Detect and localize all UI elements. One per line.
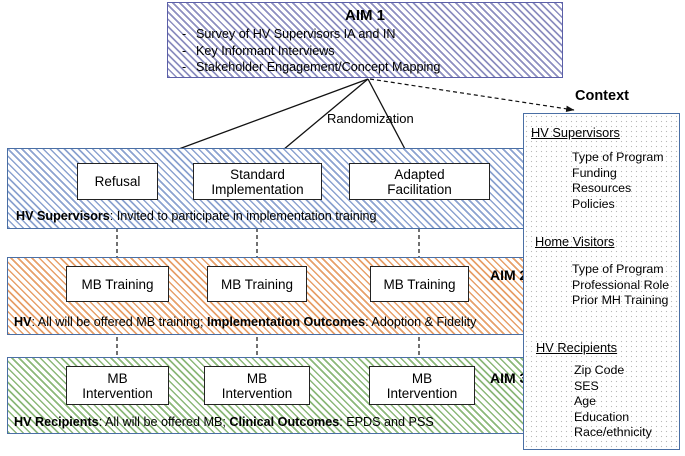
caption-hv-bold: HV [14,315,32,329]
context-heading-home-visitors: Home Visitors [535,234,614,249]
context-items-hv-recipients: Zip Code SES Age Education Race/ethnicit… [574,363,652,441]
context-item: Race/ethnicity [574,425,652,441]
context-item: SES [574,379,652,395]
caption-hv-bold2: Implementation Outcomes [207,315,365,329]
caption-hv-recipients: HV Recipients: All will be offered MB; C… [14,415,434,429]
node-mb-intervention-1[interactable]: MB Intervention [66,366,169,405]
context-item: Education [574,410,652,426]
node-mb-intervention-3-label: MB Intervention [387,371,458,401]
context-heading-hv-supervisors: HV Supervisors [531,125,620,140]
caption-recipients-mid: : All will be offered MB; [99,415,230,429]
aim1-bullet-item: -Stakeholder Engagement/Concept Mapping [182,59,554,76]
context-item: Resources [572,181,664,197]
randomization-label: Randomization [327,111,414,126]
context-title: Context [557,88,647,104]
node-mb-training-2-label: MB Training [221,277,293,292]
node-mb-intervention-2-label: MB Intervention [222,371,293,401]
caption-hv-rest: : Adoption & Fidelity [365,315,476,329]
caption-hv-mid: : All will be offered MB training; [32,315,207,329]
aim1-box: AIM 1 -Survey of HV Supervisors IA and I… [167,2,563,78]
context-heading-hv-recipients: HV Recipients [536,340,617,355]
context-items-home-visitors: Type of Program Professional Role Prior … [572,262,669,309]
caption-hv-supervisors-bold: HV Supervisors [16,209,110,223]
node-adapted-facilitation[interactable]: Adapted Facilitation [349,163,490,200]
context-item: Type of Program [572,150,664,166]
node-mb-training-1-label: MB Training [81,277,153,292]
context-item: Professional Role [572,278,669,294]
context-item: Policies [572,197,664,213]
node-mb-intervention-3[interactable]: MB Intervention [369,366,475,405]
node-mb-training-2[interactable]: MB Training [207,266,307,302]
aim3-tag: AIM 3 [490,370,527,386]
caption-recipients-bold2: Clinical Outcomes [229,415,339,429]
node-mb-intervention-2[interactable]: MB Intervention [204,366,310,405]
aim1-bullet-list: -Survey of HV Supervisors IA and IN -Key… [176,26,554,76]
context-item: Funding [572,166,664,182]
context-item: Zip Code [574,363,652,379]
bullet-marker: - [182,43,196,60]
bullet-marker: - [182,26,196,43]
aim1-bullet-text: Key Informant Interviews [196,44,335,58]
context-item: Type of Program [572,262,669,278]
node-refusal-label: Refusal [95,174,141,189]
node-mb-training-3[interactable]: MB Training [370,266,469,302]
context-item: Prior MH Training [572,293,669,309]
node-mb-training-1[interactable]: MB Training [66,266,169,302]
node-adapted-facilitation-label: Adapted Facilitation [387,167,452,197]
context-item: Age [574,394,652,410]
node-standard-implementation-label: Standard Implementation [211,167,303,197]
aim1-title: AIM 1 [176,7,554,24]
aim1-bullet-item: -Survey of HV Supervisors IA and IN [182,26,554,43]
diagram-canvas: AIM 1 -Survey of HV Supervisors IA and I… [0,0,685,456]
arrow-aim1-to-context [370,79,574,110]
caption-recipients-bold: HV Recipients [14,415,99,429]
aim1-bullet-text: Stakeholder Engagement/Concept Mapping [196,60,440,74]
context-items-hv-supervisors: Type of Program Funding Resources Polici… [572,150,664,212]
node-mb-training-3-label: MB Training [383,277,455,292]
aim1-bullet-item: -Key Informant Interviews [182,43,554,60]
aim2-tag: AIM 2 [490,267,527,283]
node-standard-implementation[interactable]: Standard Implementation [193,163,322,200]
aim1-bullet-text: Survey of HV Supervisors IA and IN [196,27,396,41]
caption-hv-supervisors-rest: : Invited to participate in implementati… [110,209,377,223]
bullet-marker: - [182,59,196,76]
node-refusal[interactable]: Refusal [77,163,158,200]
caption-home-visitors: HV: All will be offered MB training; Imp… [14,315,476,329]
node-mb-intervention-1-label: MB Intervention [82,371,153,401]
caption-recipients-rest: : EPDS and PSS [339,415,434,429]
caption-hv-supervisors: HV Supervisors: Invited to participate i… [16,209,377,223]
